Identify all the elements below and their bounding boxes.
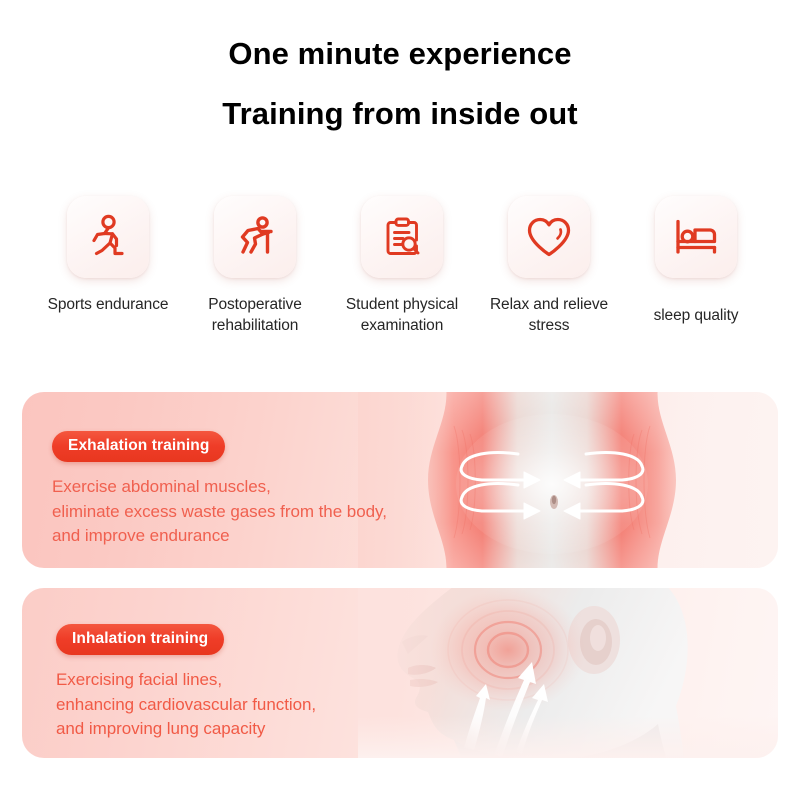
inhalation-description: Exercising facial lines, enhancing cardi… <box>56 668 316 742</box>
abdomen-illustration <box>358 392 778 568</box>
feature-student-physical-examination[interactable]: Student physical examination <box>332 196 472 337</box>
feature-relax-relieve-stress[interactable]: Relax and relieve stress <box>479 196 619 337</box>
exhalation-copy: Exhalation training Exercise abdominal m… <box>52 431 387 549</box>
feature-label: Student physical examination <box>332 295 472 337</box>
rehabilitation-person-icon <box>230 212 280 262</box>
feature-label: Relax and relieve stress <box>479 295 619 337</box>
running-person-icon <box>83 212 133 262</box>
feature-label: sleep quality <box>654 306 739 327</box>
feature-sports-endurance[interactable]: Sports endurance <box>38 196 178 316</box>
face-profile-illustration <box>358 588 778 758</box>
infographic-page: One minute experience Training from insi… <box>0 0 800 800</box>
heart-outline-icon <box>524 214 574 260</box>
exhalation-description: Exercise abdominal muscles, eliminate ex… <box>52 475 387 549</box>
feature-postoperative-rehabilitation[interactable]: Postoperative rehabilitation <box>185 196 325 337</box>
headline-block: One minute experience Training from insi… <box>0 24 800 145</box>
bed-icon <box>671 215 721 259</box>
feature-label: Sports endurance <box>48 295 169 316</box>
feature-label: Postoperative rehabilitation <box>185 295 325 337</box>
feature-tile <box>67 196 149 278</box>
headline-line-1: One minute experience <box>0 24 800 84</box>
feature-sleep-quality[interactable]: sleep quality <box>626 196 766 327</box>
clipboard-search-icon <box>378 213 426 261</box>
feature-tile <box>361 196 443 278</box>
feature-tile <box>655 196 737 278</box>
inhalation-training-panel: Inhalation training Exercising facial li… <box>22 588 778 758</box>
inhalation-badge: Inhalation training <box>56 624 224 655</box>
inhalation-copy: Inhalation training Exercising facial li… <box>56 624 316 742</box>
headline-line-2: Training from inside out <box>0 84 800 144</box>
exhalation-training-panel: Exhalation training Exercise abdominal m… <box>22 392 778 568</box>
feature-row: Sports endurance Postoperative rehabilit… <box>38 196 766 337</box>
exhalation-badge: Exhalation training <box>52 431 225 462</box>
feature-tile <box>214 196 296 278</box>
feature-tile <box>508 196 590 278</box>
